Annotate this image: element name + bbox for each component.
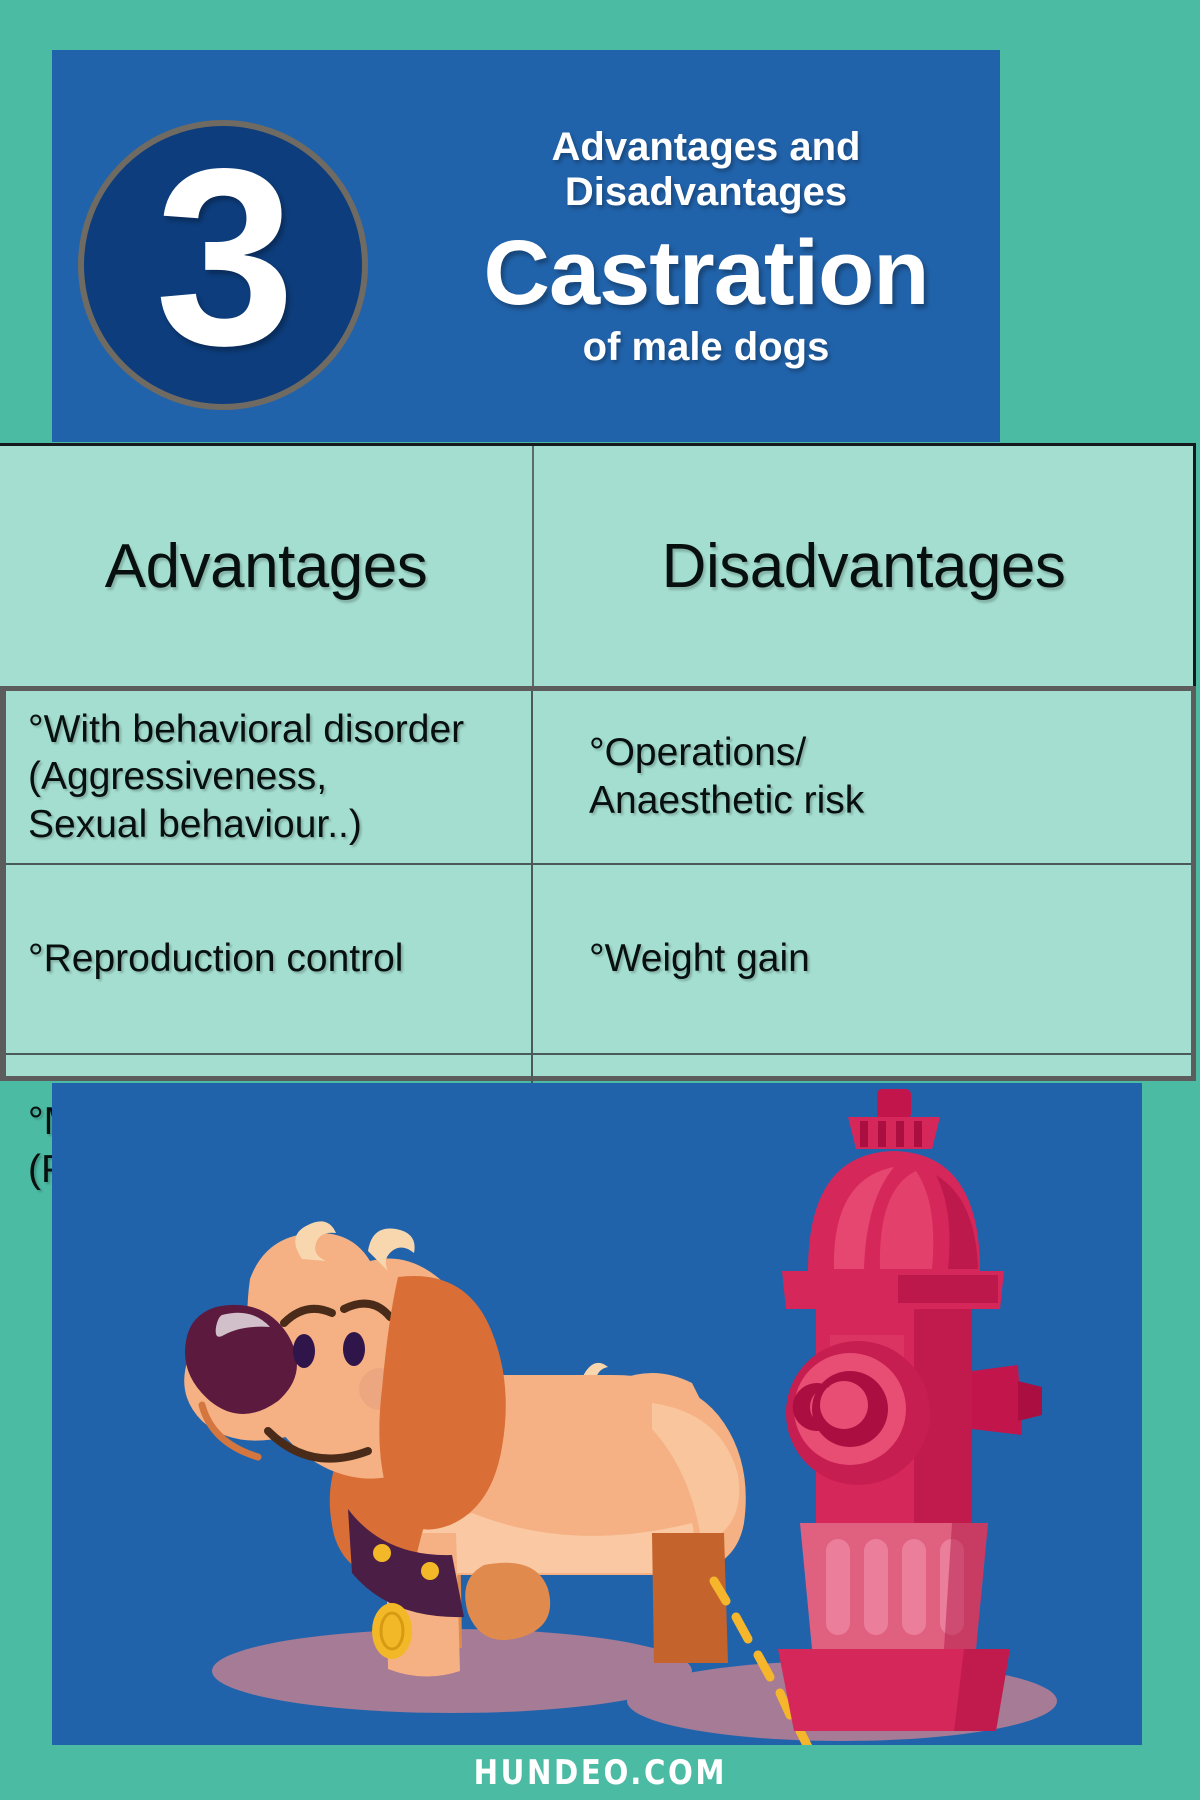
cell-disadvantage-1: °Operations/ Anaesthetic risk <box>531 691 1191 863</box>
collar-stud-1 <box>373 1544 391 1562</box>
table-body: °With behavioral disorder (Aggressivenes… <box>0 686 1196 1081</box>
cell-disadvantage-2: °Weight gain <box>531 865 1191 1053</box>
dog-hind-leg-near <box>652 1533 728 1663</box>
hydrant-flange-shade <box>898 1275 998 1303</box>
dog-hydrant-illustration <box>52 1083 1142 1745</box>
brand-label: HUNDEO.COM <box>473 1753 726 1793</box>
dog-figure <box>184 1221 746 1676</box>
header-subtitle: of male dogs <box>583 325 830 369</box>
hydrant-top-nut <box>877 1089 911 1119</box>
table-header-row: Advantages Disadvantages <box>0 443 1196 686</box>
table-row: °Reproduction control °Weight gain <box>6 865 1191 1055</box>
footer-bar: HUNDEO.COM <box>0 1745 1200 1800</box>
hydrant-side-nozzle-cap <box>1018 1381 1042 1421</box>
dog-ear <box>379 1276 505 1530</box>
collar-stud-2 <box>421 1562 439 1580</box>
dog-eye-right <box>343 1332 365 1366</box>
hydrant-side-nozzle <box>972 1365 1022 1435</box>
cell-advantage-2: °Reproduction control <box>6 865 531 1053</box>
header-text-block: Advantages and Disadvantages Castration … <box>412 50 1000 442</box>
step-number-label: 3 <box>155 132 291 384</box>
step-number-badge: 3 <box>78 120 368 410</box>
table-column-header-disadvantages: Disadvantages <box>532 446 1193 686</box>
table-row: °With behavioral disorder (Aggressivenes… <box>6 691 1191 865</box>
comparison-table: Advantages Disadvantages °With behaviora… <box>0 443 1196 1081</box>
illustration-svg <box>52 1083 1142 1745</box>
header-banner: 3 Advantages and Disadvantages Castratio… <box>52 50 1000 442</box>
fire-hydrant <box>778 1089 1042 1731</box>
collar-tag <box>372 1603 412 1659</box>
page-title: Castration <box>484 227 929 319</box>
table-column-header-advantages: Advantages <box>0 446 532 686</box>
dog-eye-left <box>293 1334 315 1368</box>
header-kicker: Advantages and Disadvantages <box>412 125 1000 215</box>
dog-paw-mid <box>465 1563 550 1640</box>
hydrant-nozzle-center <box>820 1381 868 1429</box>
cell-advantage-1: °With behavioral disorder (Aggressivenes… <box>6 691 531 863</box>
